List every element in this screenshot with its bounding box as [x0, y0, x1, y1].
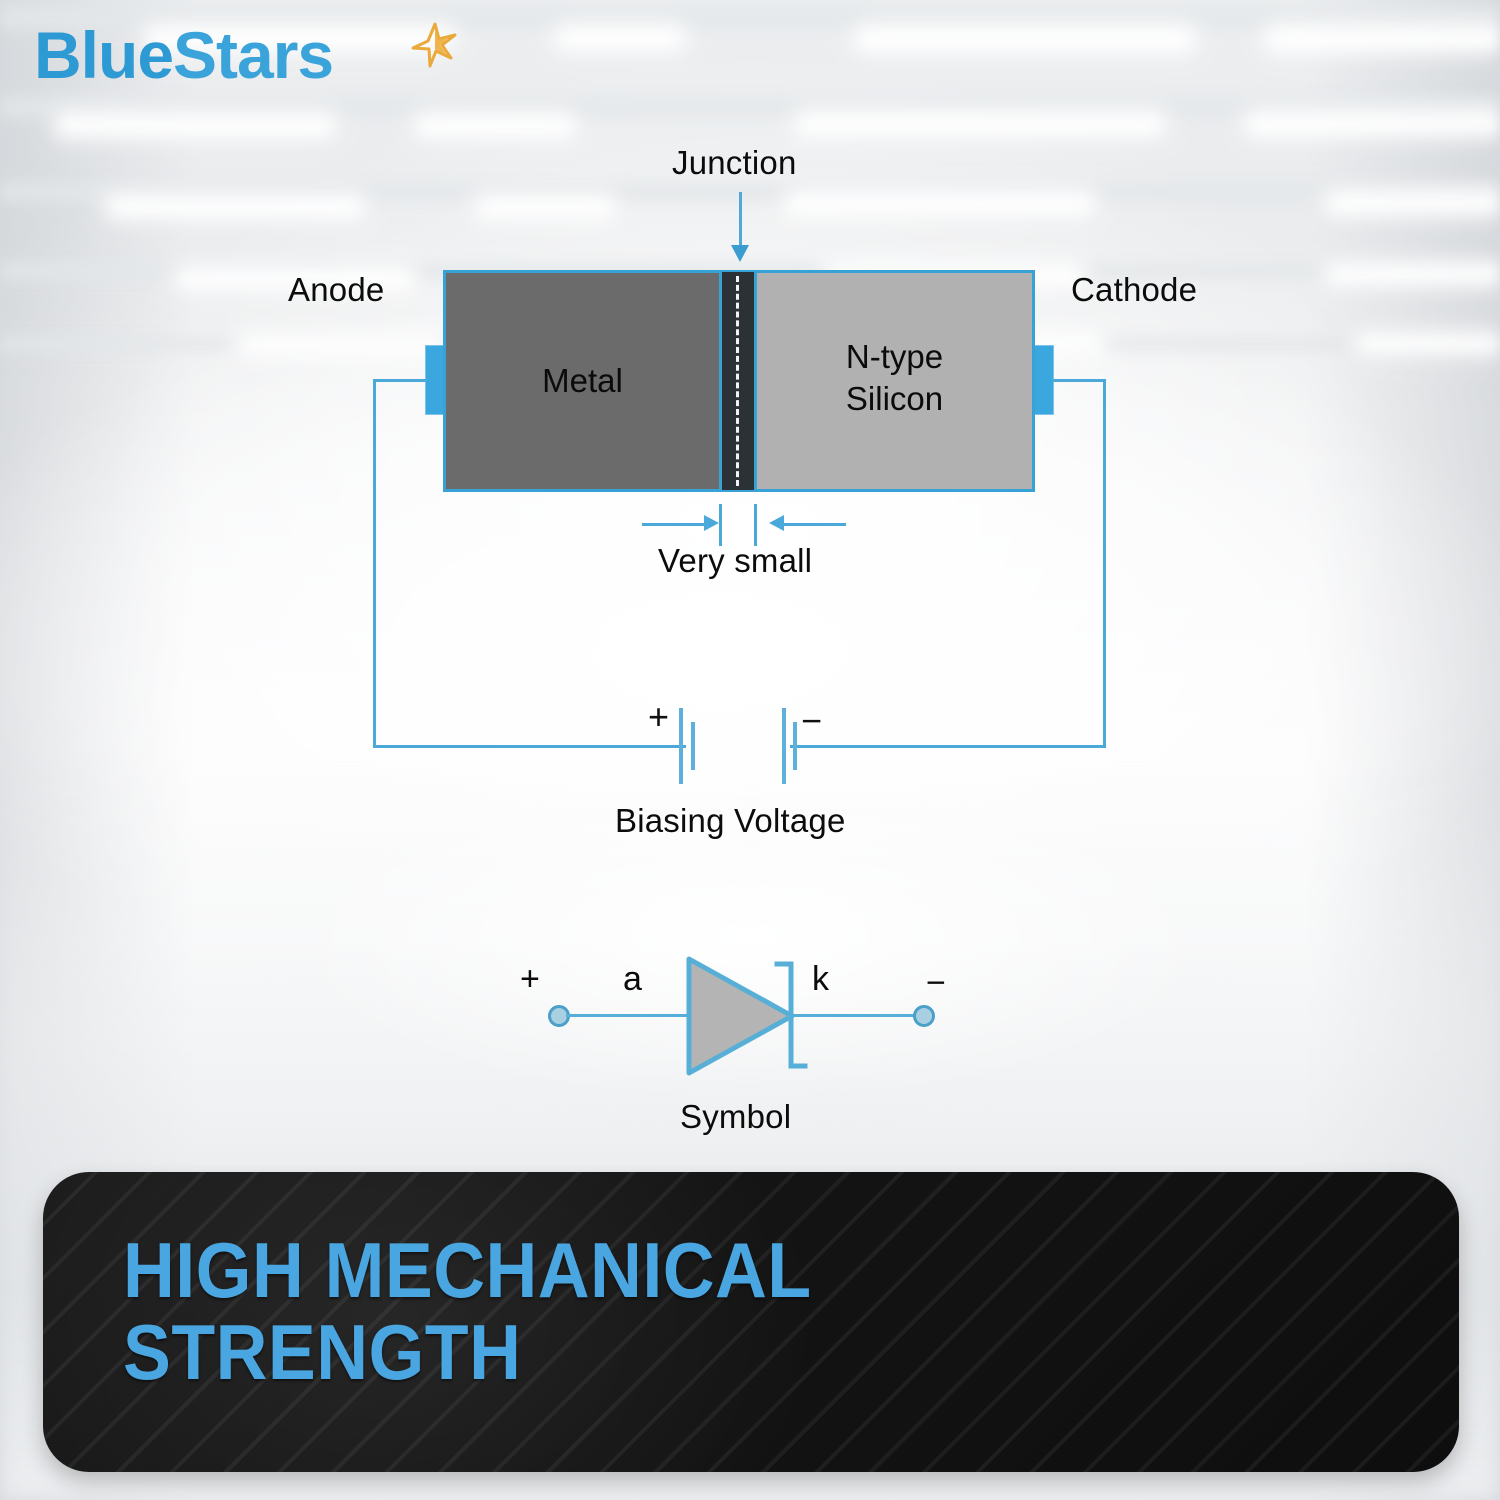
symbol-cathode-wire	[791, 1014, 921, 1017]
symbol-caption: Symbol	[680, 1099, 791, 1136]
feature-banner: HIGH MECHANICAL STRENGTH	[43, 1172, 1459, 1472]
symbol-anode-letter: a	[623, 962, 642, 996]
product-infographic-page: BlueStars Junction Anode Cathode Metal N…	[0, 0, 1500, 1500]
symbol-plus-sign: +	[520, 962, 540, 996]
symbol-cathode-dot	[913, 1005, 935, 1027]
banner-headline: HIGH MECHANICAL STRENGTH	[123, 1230, 951, 1394]
symbol-minus-sign: −	[926, 966, 946, 1000]
symbol-cathode-letter: k	[812, 962, 829, 996]
symbol-anode-wire	[566, 1014, 691, 1017]
